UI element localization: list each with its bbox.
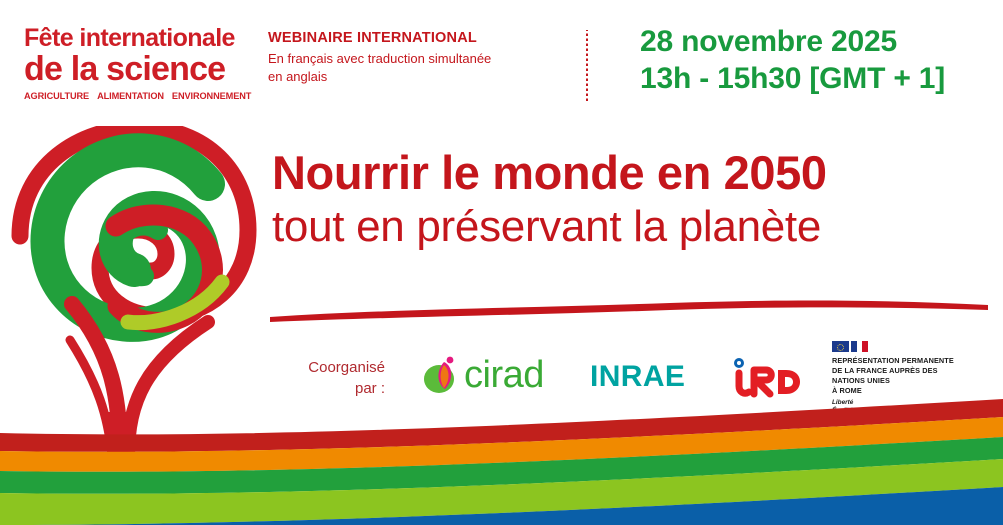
event-date: 28 novembre 2025 13h - 15h30 [GMT + 1] bbox=[640, 24, 985, 97]
french-flag-icon bbox=[851, 341, 868, 352]
dotted-divider bbox=[586, 30, 588, 102]
representation-line2: DE LA FRANCE AUPRÈS DES bbox=[832, 366, 984, 376]
flags-group bbox=[832, 341, 984, 352]
festival-logo-line1: Fête internationale bbox=[24, 26, 239, 51]
festival-subtitle-agriculture: AGRICULTURE bbox=[24, 91, 89, 101]
rainbow-wave-decoration bbox=[0, 395, 1003, 525]
webinar-title: WEBINAIRE INTERNATIONAL bbox=[268, 30, 558, 47]
event-time-line: 13h - 15h30 [GMT + 1] bbox=[640, 61, 985, 98]
cirad-wordmark: cirad bbox=[464, 356, 544, 394]
coorganized-label: Coorganisé par : bbox=[277, 358, 385, 399]
wavy-divider bbox=[270, 296, 988, 326]
representation-line1: REPRÉSENTATION PERMANENTE bbox=[832, 356, 984, 366]
webinar-info: WEBINAIRE INTERNATIONAL En français avec… bbox=[268, 30, 558, 85]
festival-subtitle-alimentation: ALIMENTATION bbox=[97, 91, 164, 101]
eu-flag-icon bbox=[832, 341, 849, 352]
webinar-banner: Fête internationale de la science AGRICU… bbox=[0, 0, 1003, 525]
festival-subtitle-environnement: ENVIRONNEMENT bbox=[172, 91, 251, 101]
main-title-line2: tout en préservant la planète bbox=[272, 202, 984, 251]
cirad-logo[interactable]: cirad bbox=[420, 352, 544, 398]
festival-logo: Fête internationale de la science AGRICU… bbox=[24, 26, 239, 101]
festival-logo-subtitle: AGRICULTURE ALIMENTATION ENVIRONNEMENT bbox=[24, 91, 239, 101]
inrae-logo[interactable]: INRAE bbox=[590, 362, 685, 392]
webinar-subtitle: En français avec traduction simultanée e… bbox=[268, 50, 558, 84]
representation-line3: NATIONS UNIES bbox=[832, 376, 984, 386]
festival-logo-line2: de la science bbox=[24, 52, 239, 87]
webinar-subtitle-line2: en anglais bbox=[268, 68, 558, 85]
main-title: Nourrir le monde en 2050 tout en préserv… bbox=[272, 148, 984, 252]
main-title-line1: Nourrir le monde en 2050 bbox=[272, 148, 984, 198]
inrae-wordmark: INRAE bbox=[590, 360, 685, 393]
ird-logo[interactable] bbox=[730, 356, 802, 396]
event-date-line: 28 novembre 2025 bbox=[640, 24, 985, 61]
representation-text: REPRÉSENTATION PERMANENTE DE LA FRANCE A… bbox=[832, 356, 984, 396]
cirad-mark-icon bbox=[420, 353, 460, 397]
webinar-subtitle-line1: En français avec traduction simultanée bbox=[268, 50, 558, 67]
coorganized-label-line1: Coorganisé bbox=[277, 358, 385, 379]
